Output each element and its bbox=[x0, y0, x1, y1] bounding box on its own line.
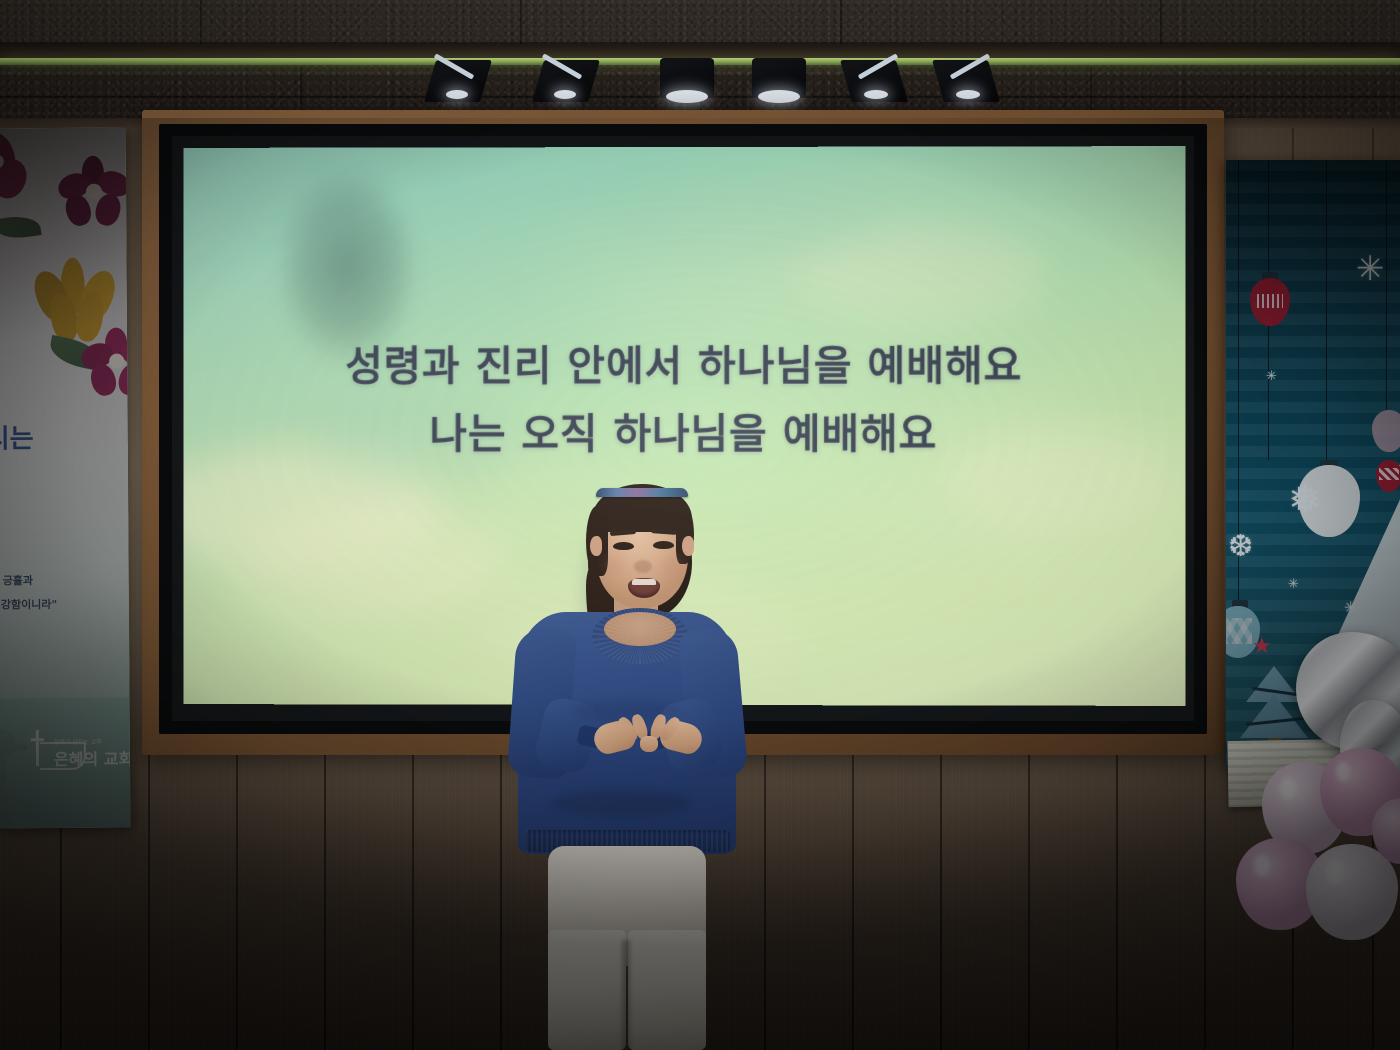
sweater-fold bbox=[552, 790, 692, 816]
sweater-fold bbox=[570, 700, 680, 722]
left-pant-leg bbox=[548, 930, 626, 1050]
nose bbox=[634, 560, 652, 573]
cheek bbox=[604, 556, 626, 574]
presenter bbox=[0, 0, 1400, 1050]
eye bbox=[653, 541, 674, 549]
collar-ribbing bbox=[592, 608, 688, 664]
headband bbox=[596, 488, 688, 497]
cheek bbox=[660, 556, 682, 574]
right-pant-leg bbox=[628, 930, 706, 1050]
thumb bbox=[640, 736, 658, 752]
ear bbox=[590, 536, 602, 556]
eye bbox=[613, 542, 634, 550]
photo-scene: 성령과 진리 안에서 하나님을 예배해요 나는 오직 하나님을 예배해요 bbox=[0, 0, 1400, 1050]
pant-seam bbox=[622, 940, 630, 1050]
ear bbox=[682, 536, 694, 556]
